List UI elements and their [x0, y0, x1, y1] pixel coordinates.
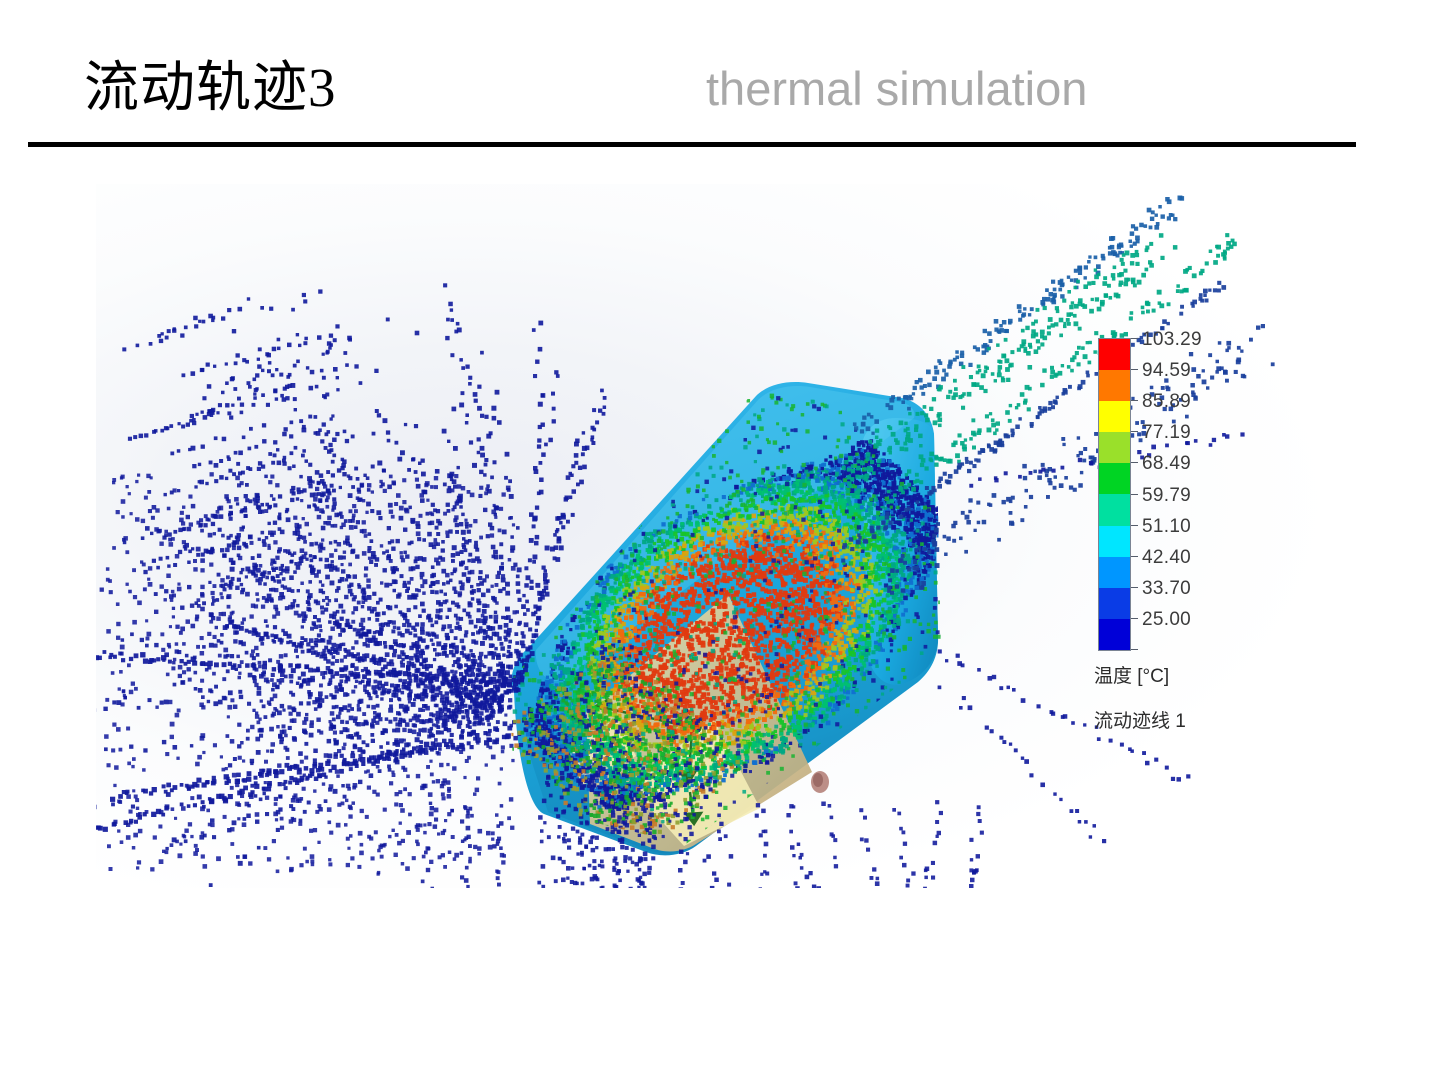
page-title: 流动轨迹3: [84, 60, 337, 115]
legend-series-label: 流动迹线 1: [1094, 706, 1186, 733]
legend-value-3: 77.19: [1142, 422, 1191, 444]
slide-header: 流动轨迹3 thermal simulation: [0, 0, 1440, 150]
color-band-9: [1099, 619, 1130, 650]
color-scale-bar: [1098, 338, 1131, 651]
legend-value-0: 103.29: [1142, 329, 1202, 351]
color-tick-5: [1131, 494, 1138, 495]
slide-subtitle: thermal simulation: [706, 65, 1087, 112]
legend-value-9: 25.00: [1142, 609, 1191, 631]
color-tick-0: [1131, 338, 1138, 339]
color-tick-6: [1131, 525, 1138, 526]
color-scale-ticks: [1131, 338, 1139, 651]
temperature-legend: 103.2994.5985.8977.1968.4959.7951.1042.4…: [1098, 336, 1328, 736]
color-band-4: [1099, 463, 1130, 494]
color-band-2: [1099, 401, 1130, 432]
legend-axis-label: 温度 [°C]: [1094, 661, 1169, 688]
legend-value-5: 59.79: [1142, 485, 1191, 507]
color-scale-values: 103.2994.5985.8977.1968.4959.7951.1042.4…: [1142, 329, 1262, 659]
color-band-0: [1099, 339, 1130, 370]
color-band-8: [1099, 588, 1130, 619]
color-band-1: [1099, 370, 1130, 401]
legend-value-7: 42.40: [1142, 547, 1191, 569]
header-divider-rule: [28, 142, 1356, 147]
legend-value-2: 85.89: [1142, 391, 1191, 413]
legend-value-1: 94.59: [1142, 360, 1191, 382]
color-band-5: [1099, 494, 1130, 525]
color-tick-10: [1131, 649, 1138, 650]
color-tick-1: [1131, 369, 1138, 370]
color-band-6: [1099, 526, 1130, 557]
color-tick-2: [1131, 400, 1138, 401]
color-tick-7: [1131, 556, 1138, 557]
legend-value-6: 51.10: [1142, 516, 1191, 538]
legend-value-4: 68.49: [1142, 453, 1191, 475]
legend-value-8: 33.70: [1142, 578, 1191, 600]
color-band-7: [1099, 557, 1130, 588]
color-tick-3: [1131, 431, 1138, 432]
color-band-3: [1099, 432, 1130, 463]
color-tick-8: [1131, 587, 1138, 588]
color-tick-9: [1131, 618, 1138, 619]
color-tick-4: [1131, 462, 1138, 463]
